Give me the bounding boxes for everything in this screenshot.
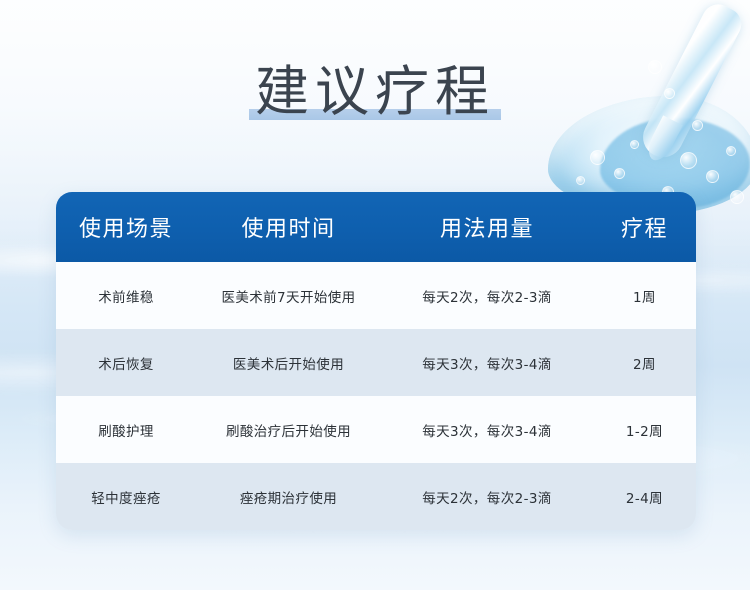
- table-row: 术后恢复 医美术后开始使用 每天3次，每次3-4滴 2周: [56, 329, 696, 396]
- cell-course: 1-2周: [593, 420, 696, 440]
- column-header-scenario: 使用场景: [56, 211, 196, 243]
- cell-scenario: 术前维稳: [56, 286, 196, 306]
- cell-dosage: 每天2次，每次2-3滴: [381, 286, 593, 306]
- promo-page: 建议疗程 使用场景 使用时间 用法用量 疗程 术前维稳 医美术前7天开始使用 每…: [0, 0, 750, 590]
- cell-timing: 痤疮期治疗使用: [196, 487, 381, 507]
- page-title-text: 建议疗程: [255, 60, 495, 123]
- cell-timing: 医美术后开始使用: [196, 353, 381, 373]
- cell-scenario: 术后恢复: [56, 353, 196, 373]
- cell-timing: 刷酸治疗后开始使用: [196, 420, 381, 440]
- column-header-timing: 使用时间: [196, 211, 381, 243]
- cell-scenario: 轻中度痤疮: [56, 487, 196, 507]
- table-row: 轻中度痤疮 痤疮期治疗使用 每天2次，每次2-3滴 2-4周: [56, 463, 696, 530]
- column-header-course: 疗程: [593, 211, 696, 243]
- column-header-dosage: 用法用量: [381, 211, 593, 243]
- cell-timing: 医美术前7天开始使用: [196, 286, 381, 306]
- cell-course: 2-4周: [593, 487, 696, 507]
- table-row: 刷酸护理 刷酸治疗后开始使用 每天3次，每次3-4滴 1-2周: [56, 396, 696, 463]
- table-header-row: 使用场景 使用时间 用法用量 疗程: [56, 192, 696, 262]
- cell-dosage: 每天2次，每次2-3滴: [381, 487, 593, 507]
- cell-dosage: 每天3次，每次3-4滴: [381, 353, 593, 373]
- cell-scenario: 刷酸护理: [56, 420, 196, 440]
- table-row: 术前维稳 医美术前7天开始使用 每天2次，每次2-3滴 1周: [56, 262, 696, 329]
- cell-course: 2周: [593, 353, 696, 373]
- page-title: 建议疗程: [0, 60, 750, 124]
- cell-course: 1周: [593, 286, 696, 306]
- treatment-course-table: 使用场景 使用时间 用法用量 疗程 术前维稳 医美术前7天开始使用 每天2次，每…: [56, 192, 696, 530]
- cell-dosage: 每天3次，每次3-4滴: [381, 420, 593, 440]
